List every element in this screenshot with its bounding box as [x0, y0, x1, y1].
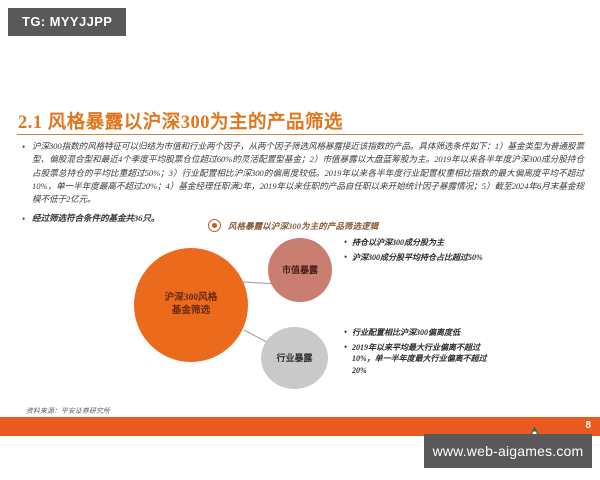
paragraph: • 沪深300指数的风格特征可以归结为市值和行业两个因子，从两个因子筛选风格暴露… [22, 140, 584, 206]
list-bullet: • [344, 327, 352, 339]
list-bullet: • [344, 237, 352, 249]
list-item: • 行业配置相比沪深300偏离度低 [344, 327, 494, 339]
diagram: 沪深300风格 基金筛选 市值暴露 行业暴露 • 持仓以沪深300成分股为主 •… [0, 212, 600, 408]
list-item: • 2019年以来平均最大行业偏离不超过10%，单一半年度最大行业偏离不超过20… [344, 342, 494, 377]
page-title: 2.1 风格暴露以沪深300为主的产品筛选 [18, 108, 343, 134]
list-item-text: 2019年以来平均最大行业偏离不超过10%，单一半年度最大行业偏离不超过20% [352, 342, 494, 377]
node-main-line2: 基金筛选 [165, 305, 218, 318]
node-size-label: 市值暴露 [282, 264, 318, 276]
node-main-line1: 沪深300风格 [165, 292, 218, 305]
node-industry-exposure: 行业暴露 [261, 327, 328, 389]
list-item: • 持仓以沪深300成分股为主 [344, 237, 494, 249]
node-industry-label: 行业暴露 [276, 352, 312, 364]
source-note: 资料来源：平安证券研究所 [26, 405, 110, 415]
list-bullet: • [344, 252, 352, 264]
list-item: • 沪深300成分股平均持仓占比超过50% [344, 252, 494, 264]
tg-watermark: TG: MYYJJPP [8, 8, 126, 36]
paragraph-text: 沪深300指数的风格特征可以归结为市值和行业两个因子，从两个因子筛选风格暴露接近… [32, 140, 584, 206]
list-item-text: 行业配置相比沪深300偏离度低 [352, 327, 494, 339]
paragraph-bullet: • [22, 140, 32, 154]
list-item-text: 持仓以沪深300成分股为主 [352, 237, 494, 249]
title-divider [17, 134, 583, 135]
node-main-circle: 沪深300风格 基金筛选 [134, 248, 248, 362]
list-bullet: • [344, 342, 352, 354]
size-exposure-points: • 持仓以沪深300成分股为主 • 沪深300成分股平均持仓占比超过50% [344, 237, 494, 266]
page-number: 8 [585, 420, 591, 431]
slide-page: 2.1 风格暴露以沪深300为主的产品筛选 • 沪深300指数的风格特征可以归结… [0, 26, 600, 410]
site-watermark: www.web-aigames.com [424, 434, 592, 468]
list-item-text: 沪深300成分股平均持仓占比超过50% [352, 252, 494, 264]
node-size-exposure: 市值暴露 [268, 238, 332, 302]
industry-exposure-points: • 行业配置相比沪深300偏离度低 • 2019年以来平均最大行业偏离不超过10… [344, 327, 494, 379]
